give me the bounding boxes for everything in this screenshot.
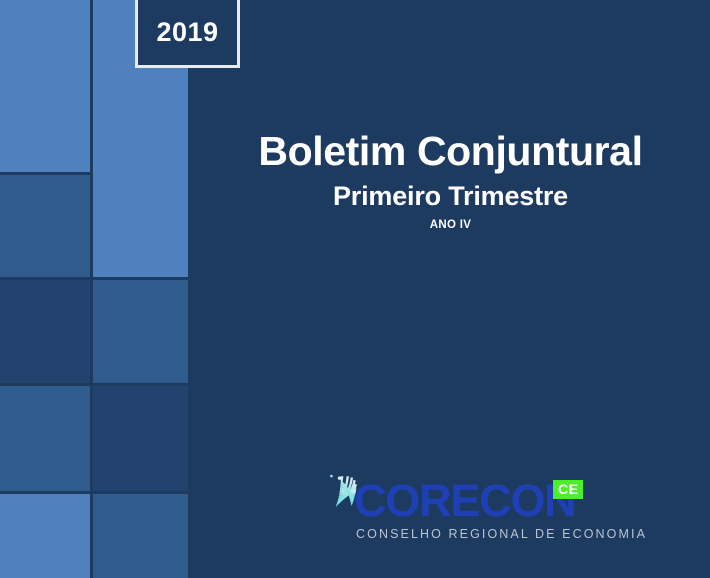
mosaic-tile-c1r2 <box>0 175 90 277</box>
globe-stripes-icon <box>292 472 360 540</box>
mosaic-decoration <box>0 0 191 578</box>
mosaic-tile-c1r1 <box>0 0 90 172</box>
page-title: Boletim Conjuntural <box>191 130 710 173</box>
mosaic-tile-c1r5 <box>0 494 90 578</box>
state-badge: CE <box>553 480 583 499</box>
cover-page: 2019 Boletim Conjuntural Primeiro Trimes… <box>0 0 710 578</box>
mosaic-tile-c2r4 <box>93 494 188 578</box>
year-label: 2019 <box>156 11 218 48</box>
mosaic-tile-c1r3 <box>0 280 90 383</box>
corecon-logo: CORECON CE CONSELHO REGIONAL DE ECONOMIA <box>292 470 582 552</box>
title-block: Boletim Conjuntural Primeiro Trimestre A… <box>191 130 710 231</box>
logo-tagline: CONSELHO REGIONAL DE ECONOMIA <box>356 527 647 541</box>
edition-label: ANO IV <box>191 219 710 231</box>
mosaic-tile-c2r3 <box>93 386 188 491</box>
mosaic-tile-c1r4 <box>0 386 90 491</box>
year-badge: 2019 <box>135 0 240 68</box>
logo-wordmark: CORECON <box>354 478 576 523</box>
page-subtitle: Primeiro Trimestre <box>191 181 710 212</box>
mosaic-tile-c2r2 <box>93 280 188 383</box>
